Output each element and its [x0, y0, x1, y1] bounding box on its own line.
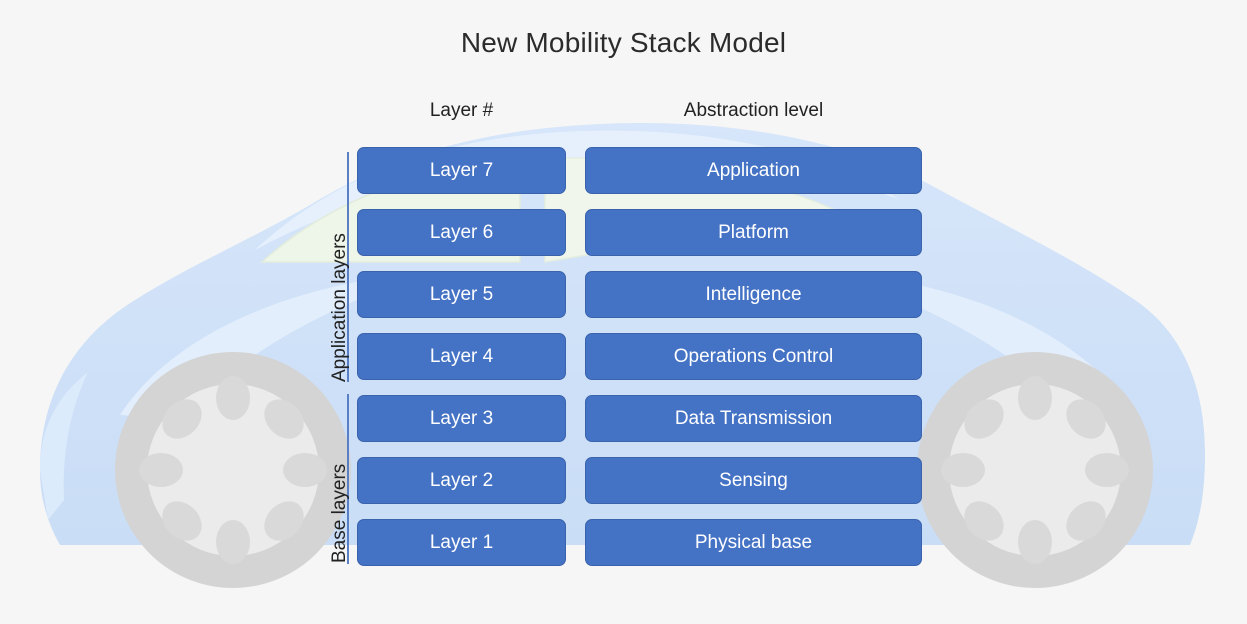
column-header-layer-number: Layer # [357, 100, 566, 122]
row-spacer [566, 333, 585, 380]
row-spacer [566, 395, 585, 442]
stack-row: Layer 6 Platform [357, 209, 922, 256]
row-spacer [566, 519, 585, 566]
layer-number-bar[interactable]: Layer 5 [357, 271, 566, 318]
layer-number-bar[interactable]: Layer 3 [357, 395, 566, 442]
car-rear-wheel [917, 352, 1153, 588]
page-title: New Mobility Stack Model [0, 27, 1247, 59]
abstraction-level-bar[interactable]: Application [585, 147, 922, 194]
abstraction-level-bar[interactable]: Platform [585, 209, 922, 256]
layer-number-bar[interactable]: Layer 7 [357, 147, 566, 194]
stack-row: Layer 4 Operations Control [357, 333, 922, 380]
stack-row: Layer 5 Intelligence [357, 271, 922, 318]
stack-row: Layer 1 Physical base [357, 519, 922, 566]
layer-number-bar[interactable]: Layer 4 [357, 333, 566, 380]
car-front-shading [40, 372, 88, 520]
stack-row: Layer 7 Application [357, 147, 922, 194]
group-label-application-layers: Application layers [329, 233, 351, 382]
abstraction-level-bar[interactable]: Operations Control [585, 333, 922, 380]
group-label-base-layers: Base layers [329, 464, 351, 563]
layer-stack: Layer 7 Application Layer 6 Platform Lay… [357, 147, 922, 566]
abstraction-level-bar[interactable]: Sensing [585, 457, 922, 504]
row-spacer [566, 209, 585, 256]
abstraction-level-bar[interactable]: Data Transmission [585, 395, 922, 442]
abstraction-level-bar[interactable]: Intelligence [585, 271, 922, 318]
row-spacer [566, 147, 585, 194]
car-front-wheel [115, 352, 351, 588]
diagram-canvas: New Mobility Stack Model Layer # Abstrac… [0, 0, 1247, 624]
abstraction-level-bar[interactable]: Physical base [585, 519, 922, 566]
row-spacer [566, 271, 585, 318]
layer-number-bar[interactable]: Layer 2 [357, 457, 566, 504]
stack-row: Layer 2 Sensing [357, 457, 922, 504]
column-header-abstraction-level: Abstraction level [585, 100, 922, 122]
stack-row: Layer 3 Data Transmission [357, 395, 922, 442]
row-spacer [566, 457, 585, 504]
layer-number-bar[interactable]: Layer 1 [357, 519, 566, 566]
layer-number-bar[interactable]: Layer 6 [357, 209, 566, 256]
